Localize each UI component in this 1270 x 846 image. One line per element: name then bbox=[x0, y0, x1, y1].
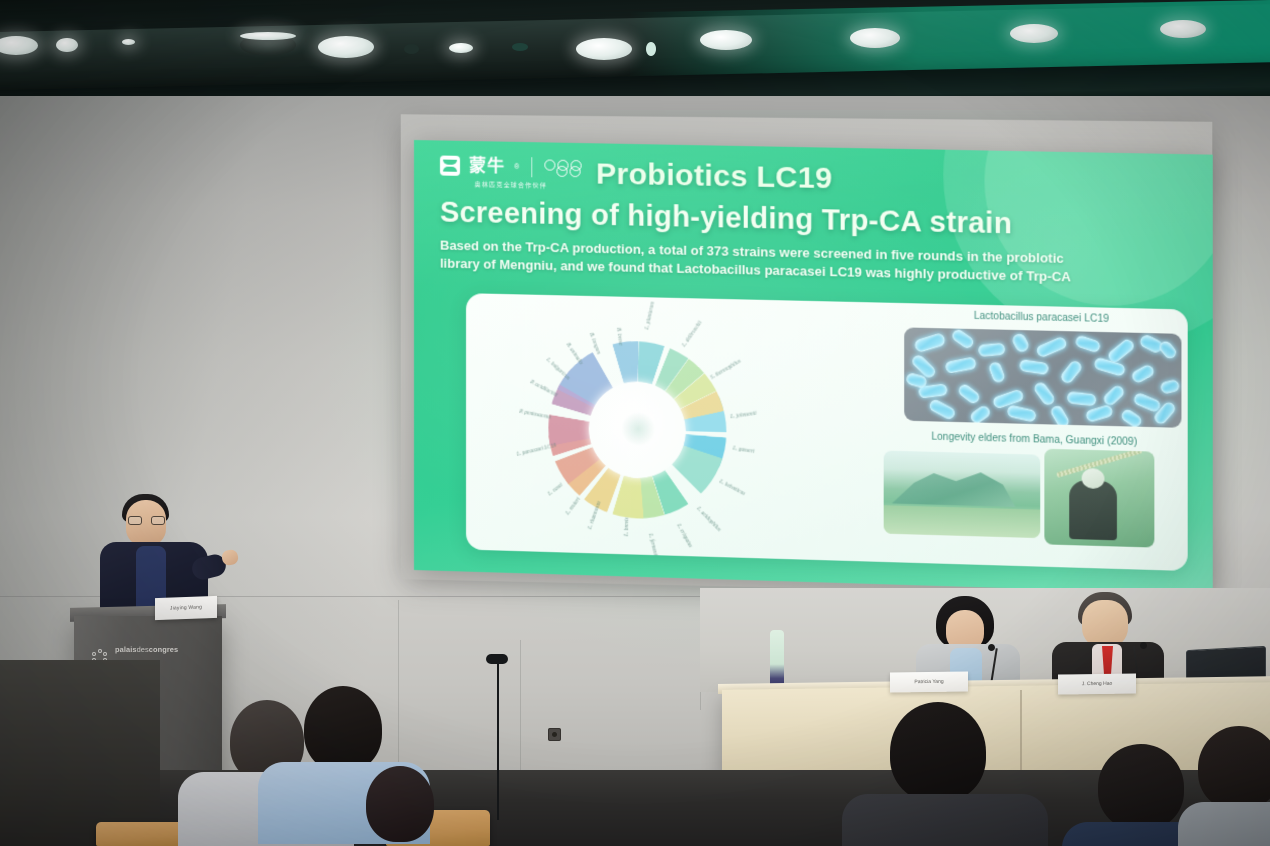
bacteria-rod bbox=[1059, 359, 1084, 386]
ceiling-spotlight bbox=[512, 43, 528, 51]
longevity-caption: Longevity elders from Bama, Guangxi (200… bbox=[869, 430, 1187, 450]
ceiling-spotlight bbox=[122, 39, 135, 45]
ceiling-spotlight bbox=[404, 44, 419, 54]
brand-divider bbox=[531, 157, 532, 177]
bacteria-rod bbox=[1130, 363, 1156, 384]
phylogenetic-circle-chart: L. plantarumL. delbrueckiiS. thermophilu… bbox=[488, 302, 792, 564]
bacteria-rod bbox=[944, 356, 977, 374]
audience-torso bbox=[842, 794, 1048, 846]
floor-microphone-stand bbox=[497, 660, 499, 820]
panel-microphone-head bbox=[988, 644, 995, 651]
bacteria-rod bbox=[1035, 336, 1068, 359]
audience-member bbox=[1198, 726, 1270, 846]
registered-mark: ® bbox=[514, 163, 519, 170]
phylo-leaf-label: L. crispatus bbox=[675, 523, 693, 549]
audience-head bbox=[1198, 726, 1270, 810]
audience-member bbox=[858, 702, 1028, 846]
audience-member bbox=[356, 766, 466, 846]
left-dark-wall bbox=[0, 660, 160, 846]
presentation-slide: 蒙牛 ® 奥林匹克全球合作伙伴 Probiotics LC19 Scr bbox=[414, 140, 1213, 594]
bacteria-rod bbox=[1067, 391, 1097, 407]
bacteria-rod bbox=[1101, 383, 1126, 407]
bacteria-rod bbox=[1085, 404, 1115, 423]
panelist-name-right: J. Cheng Hao bbox=[1082, 681, 1113, 687]
ceiling-spotlight bbox=[449, 43, 473, 53]
bacteria-rod bbox=[987, 361, 1006, 384]
bacteria-rod bbox=[1159, 379, 1180, 395]
bacteria-rod bbox=[1157, 339, 1179, 361]
phylo-leaf-label: L. gasseri bbox=[733, 445, 755, 454]
wall-socket bbox=[548, 728, 561, 741]
ceiling-spotlight bbox=[240, 32, 296, 40]
slide-title: Probiotics LC19 bbox=[596, 157, 833, 196]
bacteria-rod bbox=[1010, 332, 1031, 354]
brand-lockup: 蒙牛 ® 奥林匹克全球合作伙伴 bbox=[440, 152, 582, 190]
ceiling-spotlight bbox=[576, 38, 632, 60]
olympic-rings-icon bbox=[545, 159, 582, 177]
ceiling-spotlight bbox=[850, 28, 900, 48]
bacteria-rod bbox=[950, 327, 976, 350]
brand-subtitle-cn: 奥林匹克全球合作伙伴 bbox=[475, 179, 547, 189]
bacteria-rod bbox=[1049, 404, 1071, 428]
speaker-name-text: Jiaying Wang bbox=[170, 604, 202, 611]
ceiling-spotlight bbox=[1160, 20, 1206, 38]
audience-head bbox=[1098, 744, 1184, 830]
bamboo-bundle bbox=[1056, 449, 1142, 478]
audience-head bbox=[890, 702, 986, 802]
panel-microphone-head bbox=[1140, 642, 1147, 649]
bacteria-rod bbox=[928, 398, 957, 422]
bacteria-rod bbox=[913, 332, 946, 353]
micrograph-image bbox=[904, 327, 1181, 427]
audience-head bbox=[366, 766, 434, 842]
slide-content-card: L. plantarumL. delbrueckiiS. thermophilu… bbox=[466, 293, 1188, 571]
bacteria-rod bbox=[1093, 356, 1126, 377]
bacteria-rod bbox=[968, 404, 992, 426]
ceiling-spotlight bbox=[700, 30, 752, 50]
phylo-leaf-label: L. plantarum bbox=[644, 301, 656, 330]
phylo-leaf-label: L. johnsonii bbox=[730, 411, 757, 421]
phylo-leaf-label: P. pentosaceus bbox=[519, 409, 551, 421]
ceiling-spotlight bbox=[1010, 24, 1058, 43]
phylo-leaf-labels: L. plantarumL. delbrueckiiS. thermophilu… bbox=[488, 302, 792, 309]
landscape-photo bbox=[884, 451, 1041, 539]
ceiling-spotlight bbox=[56, 38, 78, 52]
panelist-face bbox=[1082, 600, 1128, 648]
bacteria-rod bbox=[1006, 404, 1037, 423]
phylo-leaf-label: B. breve bbox=[615, 327, 623, 345]
bacteria-rod bbox=[1074, 334, 1102, 354]
speaker-nameplate: Jiaying Wang bbox=[155, 596, 217, 620]
venue-logo-line1: palaisdescongres bbox=[115, 645, 178, 654]
elder-photo bbox=[1044, 449, 1154, 548]
phylo-leaf-label: L. brevis bbox=[624, 517, 631, 536]
bacteria-rod bbox=[1032, 380, 1057, 407]
panelist-nameplate-right: J. Cheng Hao bbox=[1058, 673, 1136, 694]
bacteria-rod bbox=[956, 382, 981, 406]
phylo-leaf-label: L. fermentum bbox=[647, 533, 660, 563]
conference-photo: 蒙牛 ® 奥林匹克全球合作伙伴 Probiotics LC19 Scr bbox=[0, 0, 1270, 846]
bacteria-rod bbox=[978, 343, 1006, 357]
ceiling-spotlight bbox=[318, 36, 374, 58]
audience-head bbox=[304, 686, 382, 772]
mengniu-logo-icon bbox=[440, 155, 460, 175]
glasses-icon bbox=[128, 516, 165, 525]
panelist-name-left: Patricia Yang bbox=[914, 679, 943, 685]
micrograph-caption: Lactobacillus paracasei LC19 bbox=[892, 309, 1188, 327]
bacteria-rod bbox=[1119, 407, 1143, 427]
bacteria-rod bbox=[1019, 359, 1049, 376]
audience-torso bbox=[1178, 802, 1270, 846]
floor-microphone-head bbox=[486, 654, 508, 664]
panelist-nameplate-left: Patricia Yang bbox=[890, 671, 968, 692]
brand-name-cn: 蒙牛 bbox=[469, 158, 505, 176]
wall-seam bbox=[520, 640, 521, 790]
ceiling-spotlight bbox=[646, 42, 656, 56]
